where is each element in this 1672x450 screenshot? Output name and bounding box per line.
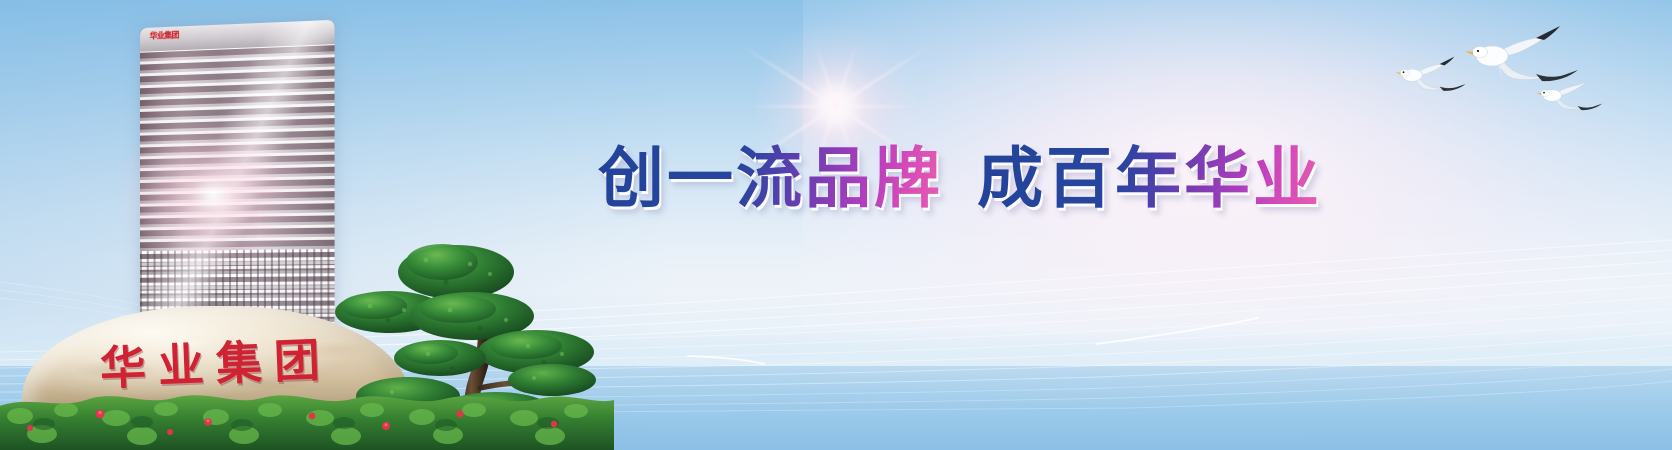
tower-glass-shine xyxy=(140,20,335,336)
office-tower: 华业集团 xyxy=(140,20,335,336)
slogan-part-2: 成百年华业 xyxy=(977,140,1322,218)
foreground-scene: 华业集团 华业集团 xyxy=(0,0,420,450)
hedge-shrubs xyxy=(0,380,614,450)
slogan-part-1: 创一流品牌 xyxy=(598,140,943,218)
flying-seagulls xyxy=(1378,4,1668,124)
tower-body: 华业集团 xyxy=(140,20,335,336)
company-banner: 华业集团 华业集团 xyxy=(0,0,1672,450)
slogan-banner-text: 创一流品牌 成百年华业 xyxy=(598,131,1398,227)
